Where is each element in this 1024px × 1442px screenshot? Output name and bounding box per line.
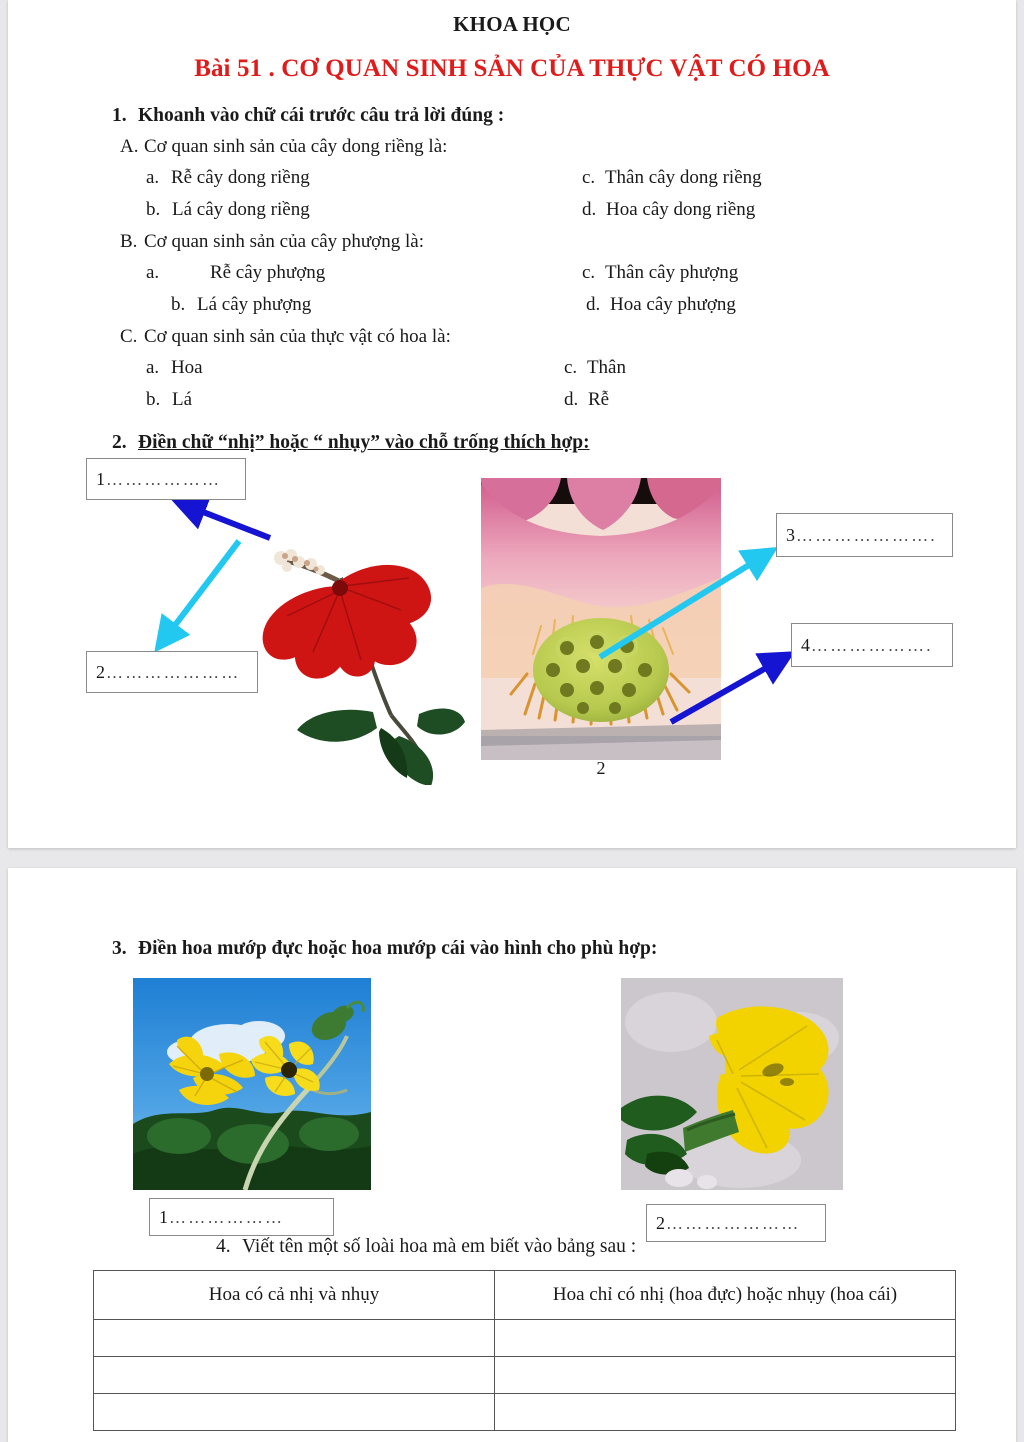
answer-box-3-number: 3	[786, 526, 795, 544]
option-c2-label: Lá	[172, 389, 192, 410]
question-4-heading: 4.Viết tên một số loài hoa mà em biết và…	[216, 1236, 636, 1258]
luffa-flower-closeup-figure	[621, 978, 843, 1190]
option-b4-label: Hoa cây phượng	[610, 294, 736, 315]
option-a4-key: d.	[582, 199, 596, 220]
answer-box-q3-2-number: 2	[656, 1214, 665, 1232]
option-a3-key: c.	[582, 167, 595, 188]
question-1-part-a-prompt: A.Cơ quan sinh sản của cây dong riềng là…	[120, 136, 1016, 158]
option-a1-key: a.	[146, 167, 159, 188]
question-1-text: Khoanh vào chữ cái trước câu trả lời đún…	[138, 105, 504, 126]
table-row[interactable]	[94, 1394, 956, 1431]
question-4-number: 4.	[216, 1236, 242, 1258]
option-a3[interactable]: c. Thân cây dong riềng	[582, 167, 762, 189]
lotus-figure-caption: 2	[481, 758, 721, 779]
answer-box-1-number: 1	[96, 470, 105, 488]
table-header-row: Hoa có cả nhị và nhụy Hoa chỉ có nhị (ho…	[94, 1271, 956, 1320]
answer-box-2[interactable]: 2…………………	[86, 651, 258, 693]
answer-box-q3-2[interactable]: 2…………………	[646, 1204, 826, 1242]
option-c1-label: Hoa	[171, 357, 203, 378]
option-a1[interactable]: a. Rễ cây dong riềng	[146, 167, 310, 189]
luffa-flowers-sky-figure	[133, 978, 371, 1190]
option-a4[interactable]: d. Hoa cây dong riềng	[582, 199, 755, 221]
option-b4-key: d.	[586, 294, 600, 315]
option-a3-label: Thân cây dong riềng	[605, 167, 762, 188]
table-cell[interactable]	[94, 1320, 495, 1357]
table-cell[interactable]	[94, 1394, 495, 1431]
answer-box-1[interactable]: 1………………	[86, 458, 246, 500]
part-b-letter: B.	[120, 231, 144, 253]
question-1-heading: 1.Khoanh vào chữ cái trước câu trả lời đ…	[112, 105, 1016, 127]
answer-box-4-number: 4	[801, 636, 810, 654]
part-b-text: Cơ quan sinh sản của cây phượng là:	[144, 231, 424, 252]
option-b4[interactable]: d. Hoa cây phượng	[586, 294, 736, 316]
part-a-letter: A.	[120, 136, 144, 158]
question-2-heading: 2.Điền chữ “nhị” hoặc “ nhụy” vào chỗ tr…	[112, 432, 1016, 454]
table-header-cell-2: Hoa chỉ có nhị (hoa đực) hoặc nhụy (hoa …	[495, 1271, 956, 1320]
option-c1-key: a.	[146, 357, 159, 378]
option-c4-key: d.	[564, 389, 578, 410]
question-1-part-a-options-row-2: b. Lá cây dong riềng d. Hoa cây dong riề…	[146, 199, 1016, 222]
answer-box-2-number: 2	[96, 663, 105, 681]
option-b1-label: Rễ cây phượng	[210, 262, 325, 283]
table-row[interactable]	[94, 1357, 956, 1394]
question-1-number: 1.	[112, 105, 138, 127]
lesson-title: Bài 51 . CƠ QUAN SINH SẢN CỦA THỰC VẬT C…	[8, 55, 1016, 83]
table-cell[interactable]	[495, 1394, 956, 1431]
option-c4-label: Rễ	[588, 389, 609, 410]
question-1-part-a-options-row-1: a. Rễ cây dong riềng c. Thân cây dong ri…	[146, 167, 1016, 190]
question-1-part-b-prompt: B.Cơ quan sinh sản của cây phượng là:	[120, 231, 1016, 253]
option-c2[interactable]: b. Lá	[146, 389, 192, 411]
option-c3[interactable]: c. Thân	[564, 357, 626, 379]
table-cell[interactable]	[94, 1357, 495, 1394]
answer-box-q3-1[interactable]: 1………………	[149, 1198, 334, 1236]
lotus-flower-figure	[481, 478, 721, 760]
hibiscus-flower-figure	[223, 500, 468, 785]
option-b1-key: a.	[146, 262, 159, 283]
option-a4-label: Hoa cây dong riềng	[606, 199, 755, 220]
option-c3-key: c.	[564, 357, 577, 378]
flower-classification-table: Hoa có cả nhị và nhụy Hoa chỉ có nhị (ho…	[93, 1270, 956, 1431]
option-c2-key: b.	[146, 389, 160, 410]
question-2-number: 2.	[112, 432, 138, 454]
table-header-cell-1: Hoa có cả nhị và nhụy	[94, 1271, 495, 1320]
worksheet-page-2: 3.Điền hoa mướp đực hoặc hoa mướp cái và…	[8, 868, 1016, 1442]
option-b1[interactable]: a. Rễ cây phượng	[146, 262, 325, 284]
option-b2-key: b.	[171, 294, 185, 315]
question-3-heading: 3.Điền hoa mướp đực hoặc hoa mướp cái và…	[112, 938, 1016, 960]
answer-box-q3-1-number: 1	[159, 1208, 168, 1226]
table-cell[interactable]	[495, 1320, 956, 1357]
answer-box-3-dots: ………………….	[796, 527, 937, 544]
option-b3-label: Thân cây phượng	[605, 262, 738, 283]
option-a2[interactable]: b. Lá cây dong riềng	[146, 199, 310, 221]
option-b3-key: c.	[582, 262, 595, 283]
question-4-text: Viết tên một số loài hoa mà em biết vào …	[242, 1236, 636, 1257]
option-b3[interactable]: c. Thân cây phượng	[582, 262, 738, 284]
table-cell[interactable]	[495, 1357, 956, 1394]
worksheet-page-1: KHOA HỌC Bài 51 . CƠ QUAN SINH SẢN CỦA T…	[8, 0, 1016, 848]
table-row[interactable]	[94, 1320, 956, 1357]
subject-title: KHOA HỌC	[8, 12, 1016, 37]
question-1-part-b-options-row-2: b. Lá cây phượng d. Hoa cây phượng	[146, 294, 1016, 317]
question-3-number: 3.	[112, 938, 138, 960]
answer-box-q3-1-dots: ………………	[169, 1209, 284, 1226]
answer-box-3[interactable]: 3………………….	[776, 513, 953, 557]
answer-box-q3-2-dots: …………………	[666, 1215, 800, 1232]
question-1-part-c-options-row-1: a. Hoa c. Thân	[146, 357, 1016, 380]
part-a-text: Cơ quan sinh sản của cây dong riềng là:	[144, 136, 447, 157]
answer-box-4-dots: ……………….	[811, 637, 933, 654]
option-b2[interactable]: b. Lá cây phượng	[171, 294, 311, 316]
option-c4[interactable]: d. Rễ	[564, 389, 609, 411]
option-a2-label: Lá cây dong riềng	[172, 199, 310, 220]
part-c-letter: C.	[120, 326, 144, 348]
option-a2-key: b.	[146, 199, 160, 220]
answer-box-1-dots: ………………	[106, 471, 221, 488]
question-1-part-c-prompt: C.Cơ quan sinh sản của thực vật có hoa l…	[120, 326, 1016, 348]
option-c1[interactable]: a. Hoa	[146, 357, 203, 379]
option-b2-label: Lá cây phượng	[197, 294, 311, 315]
answer-box-4[interactable]: 4……………….	[791, 623, 953, 667]
question-1-part-c-options-row-2: b. Lá d. Rễ	[146, 389, 1016, 412]
option-a1-label: Rễ cây dong riềng	[171, 167, 310, 188]
part-c-text: Cơ quan sinh sản của thực vật có hoa là:	[144, 326, 451, 347]
answer-box-2-dots: …………………	[106, 664, 240, 681]
question-2-text: Điền chữ “nhị” hoặc “ nhụy” vào chỗ trốn…	[138, 432, 590, 453]
question-3-text: Điền hoa mướp đực hoặc hoa mướp cái vào …	[138, 938, 657, 959]
option-c3-label: Thân	[587, 357, 626, 378]
question-1-part-b-options-row-1: a. Rễ cây phượng c. Thân cây phượng	[146, 262, 1016, 285]
